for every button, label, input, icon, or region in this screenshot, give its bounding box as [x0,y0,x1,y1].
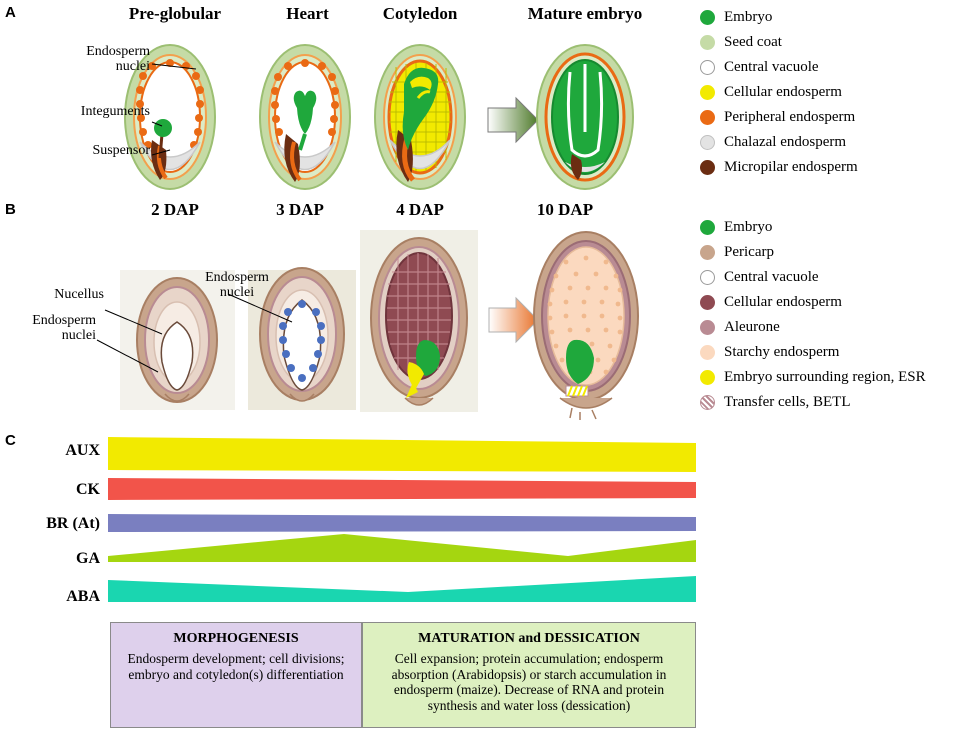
hormone-label-br: BR (At) [10,515,100,533]
legend-label: Seed coat [724,34,782,51]
legend-item: Micropilar endosperm [700,155,858,180]
legend-label: Transfer cells, BETL [724,394,851,411]
panel-a-legend: Embryo Seed coat Central vacuole Cellula… [700,5,858,180]
annotation-endosperm-nuclei-b-left: Endospermnuclei [0,313,96,344]
stage-title-10dap: 10 DAP [500,200,630,220]
panel-b-legend: Embryo Pericarp Central vacuole Cellular… [700,215,926,415]
phase-box-title: MORPHOGENESIS [119,631,353,647]
legend-item: Embryo [700,5,858,30]
legend-swatch-central-vacuole [700,270,715,285]
legend-label: Micropilar endosperm [724,159,858,176]
band-aux [108,437,696,472]
legend-item: Chalazal endosperm [700,130,858,155]
stage-title-3dap: 3 DAP [245,200,355,220]
legend-label: Peripheral endosperm [724,109,855,126]
band-br [108,514,696,532]
legend-label: Embryo surrounding region, ESR [724,369,926,386]
phase-box-morphogenesis: MORPHOGENESIS Endosperm development; cel… [110,622,362,728]
annotation-nucellus-b: Nucellus [0,287,104,302]
legend-swatch-cellular-endosperm [700,85,715,100]
band-ga [108,534,696,562]
panel-c-hormone-bands [108,432,708,622]
legend-label: Central vacuole [724,59,819,76]
phase-box-title: MATURATION and DESSICATION [371,631,687,647]
legend-label: Cellular endosperm [724,294,842,311]
panel-letter-a: A [5,4,16,21]
legend-swatch-seed-coat [700,35,715,50]
legend-swatch-esr [700,370,715,385]
kernel-10dap [534,232,638,420]
legend-label: Chalazal endosperm [724,134,846,151]
legend-swatch-starchy-endosperm [700,345,715,360]
seed-heart [260,45,350,189]
legend-item: Seed coat [700,30,858,55]
phase-box-body: Endosperm development; cell divisions; e… [119,651,353,682]
stage-title-mature-embryo: Mature embryo [495,4,675,24]
legend-item: Transfer cells, BETL [700,390,926,415]
hormone-label-aba: ABA [10,588,100,606]
legend-item: Cellular endosperm [700,80,858,105]
legend-swatch-betl [700,395,715,410]
legend-swatch-peripheral-endosperm [700,110,715,125]
legend-swatch-chalazal-endosperm [700,135,715,150]
legend-label: Starchy endosperm [724,344,839,361]
legend-item: Embryo [700,215,926,240]
hormone-label-ga: GA [10,550,100,568]
legend-label: Aleurone [724,319,780,336]
legend-label: Pericarp [724,244,774,261]
band-aba [108,576,696,602]
stage-title-cotyledon: Cotyledon [355,4,485,24]
legend-swatch-embryo [700,10,715,25]
legend-swatch-pericarp [700,245,715,260]
hormone-label-ck: CK [10,481,100,499]
legend-swatch-central-vacuole [700,60,715,75]
seed-cotyledon [375,45,465,189]
legend-label: Embryo [724,9,772,26]
legend-item: Starchy endosperm [700,340,926,365]
panel-a-leader-lines [0,22,240,202]
band-ck [108,478,696,500]
panel-letter-b: B [5,201,16,218]
legend-item: Pericarp [700,240,926,265]
stage-title-4dap: 4 DAP [360,200,480,220]
legend-item: Central vacuole [700,265,926,290]
legend-swatch-aleurone [700,320,715,335]
legend-swatch-embryo [700,220,715,235]
legend-label: Central vacuole [724,269,819,286]
seed-mature-embryo [537,45,633,189]
legend-item: Cellular endosperm [700,290,926,315]
panel-b-arrow [489,298,538,342]
stage-title-heart: Heart [255,4,360,24]
legend-item: Aleurone [700,315,926,340]
legend-item: Embryo surrounding region, ESR [700,365,926,390]
panel-b-diagram [0,222,700,422]
panel-a-arrow [488,98,538,142]
phase-box-body: Cell expansion; protein accumulation; en… [371,651,687,713]
annotation-endosperm-nuclei-b-mid: Endospermnuclei [182,270,292,301]
legend-label: Cellular endosperm [724,84,842,101]
legend-swatch-cellular-endosperm [700,295,715,310]
legend-swatch-micropilar-endosperm [700,160,715,175]
stage-title-2dap: 2 DAP [115,200,235,220]
hormone-label-aux: AUX [10,442,100,460]
legend-item: Central vacuole [700,55,858,80]
stage-title-pre-globular: Pre-globular [95,4,255,24]
legend-label: Embryo [724,219,772,236]
legend-item: Peripheral endosperm [700,105,858,130]
phase-box-maturation: MATURATION and DESSICATION Cell expansio… [362,622,696,728]
